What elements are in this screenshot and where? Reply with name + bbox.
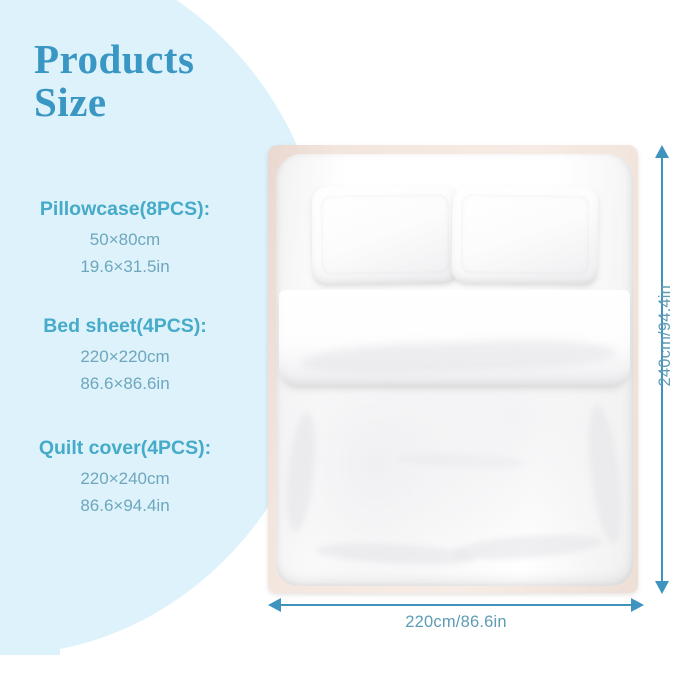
folded-top-sheet xyxy=(279,290,630,386)
spec-imperial-pillowcase: 19.6×31.5in xyxy=(10,257,240,277)
fabric-fold xyxy=(316,540,477,568)
spec-metric-bed-sheet: 220×220cm xyxy=(10,347,240,367)
dimension-line-horizontal xyxy=(276,604,634,606)
product-size-infographic: Products Size Pillowcase(8PCS): 50×80cm … xyxy=(0,0,700,700)
fabric-fold xyxy=(396,452,526,471)
arrow-right-icon xyxy=(631,598,644,612)
spec-metric-quilt-cover: 220×240cm xyxy=(10,469,240,489)
product-image-bed xyxy=(268,145,638,593)
fabric-fold xyxy=(282,411,320,533)
spec-metric-pillowcase: 50×80cm xyxy=(10,230,240,250)
page-title-line-1: Products xyxy=(34,38,194,81)
pillow-left xyxy=(311,185,458,285)
spec-group-pillowcase: Pillowcase(8PCS): 50×80cm 19.6×31.5in xyxy=(10,198,240,277)
dimension-label-vertical: 240cm/94.4in xyxy=(656,285,675,386)
page-title-line-2: Size xyxy=(34,81,194,124)
spec-heading-quilt-cover: Quilt cover(4PCS): xyxy=(10,437,240,460)
spec-heading-pillowcase: Pillowcase(8PCS): xyxy=(10,198,240,221)
pillow-right xyxy=(451,185,598,285)
quilt-cover-surface xyxy=(276,154,633,586)
spec-imperial-quilt-cover: 86.6×94.4in xyxy=(10,496,240,516)
page-title: Products Size xyxy=(34,38,194,125)
arrow-down-icon xyxy=(655,581,669,594)
spec-group-bed-sheet: Bed sheet(4PCS): 220×220cm 86.6×86.6in xyxy=(10,315,240,394)
dimension-label-horizontal: 220cm/86.6in xyxy=(268,613,644,632)
fabric-fold xyxy=(583,403,628,545)
spec-heading-bed-sheet: Bed sheet(4PCS): xyxy=(10,315,240,338)
sheet-crease xyxy=(300,336,617,377)
spec-group-quilt-cover: Quilt cover(4PCS): 220×240cm 86.6×94.4in xyxy=(10,437,240,516)
spec-imperial-bed-sheet: 86.6×86.6in xyxy=(10,374,240,394)
fabric-fold xyxy=(452,531,603,563)
